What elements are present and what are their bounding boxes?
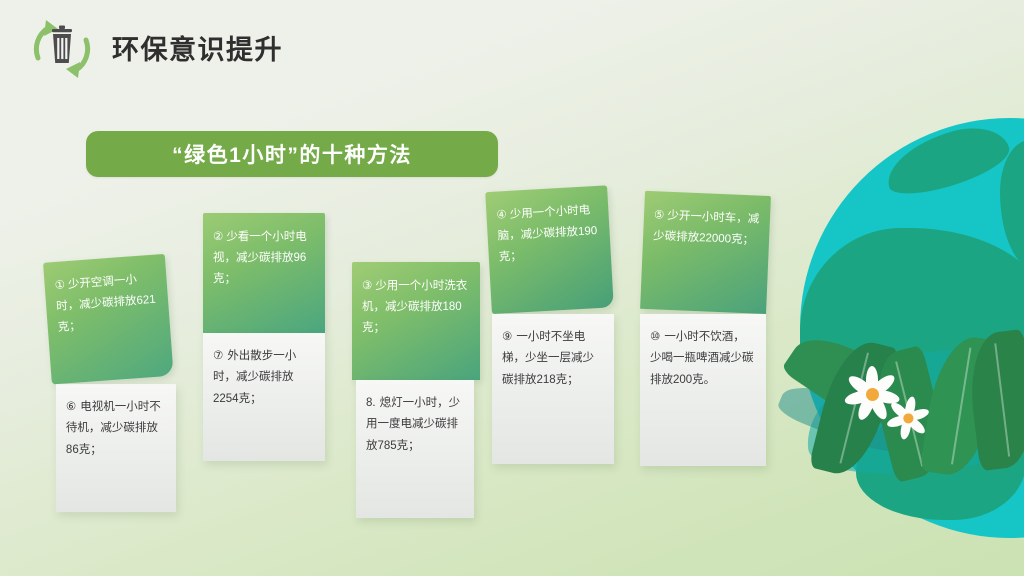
slide-header: 环保意识提升 bbox=[0, 0, 1024, 96]
globe-shadow-shape bbox=[799, 339, 1024, 484]
tip-card-top: ②少看一个小时电视，减少碳排放96克； bbox=[203, 213, 325, 333]
tip-card-top: ④少用一个小时电脑，减少碳排放190克； bbox=[485, 185, 614, 314]
leaf-shadow bbox=[775, 372, 931, 469]
tip-card-bottom: ⑥电视机一小时不待机，减少碳排放86克； bbox=[56, 384, 176, 512]
leaf-shadow bbox=[897, 376, 1024, 452]
tip-card-top: ①少开空调一小时，减少碳排放621克； bbox=[43, 254, 174, 385]
leaf-icon bbox=[808, 335, 899, 481]
tip-text: 一小时不饮酒，少喝一瓶啤酒减少碳排放200克。 bbox=[650, 331, 754, 386]
tip-card-bottom: ⑨一小时不坐电梯，少坐一层减少碳排放218克； bbox=[492, 314, 614, 464]
section-banner-label: “绿色1小时”的十种方法 bbox=[172, 139, 412, 169]
globe-continent-shape bbox=[1000, 140, 1024, 270]
tip-text: 少开空调一小时，减少碳排放621克； bbox=[56, 274, 156, 334]
globe-continent-shape bbox=[879, 118, 1014, 203]
tip-card-bottom: ⑩一小时不饮酒，少喝一瓶啤酒减少碳排放200克。 bbox=[640, 314, 766, 466]
tip-number: ⑤ bbox=[654, 205, 665, 226]
leaf-icon bbox=[919, 332, 1002, 480]
section-banner: “绿色1小时”的十种方法 bbox=[86, 131, 498, 177]
tip-number: 8. bbox=[366, 393, 376, 414]
tip-number: ⑥ bbox=[66, 397, 76, 418]
tip-card-top: ⑤少开一小时车，减少碳排放22000克； bbox=[640, 191, 771, 314]
page-title: 环保意识提升 bbox=[112, 28, 283, 67]
tip-card-bottom: ⑦外出散步一小时，减少碳排放2254克； bbox=[203, 333, 325, 461]
tip-text: 一小时不坐电梯，少坐一层减少碳排放218克； bbox=[502, 331, 594, 386]
globe-continent-shape bbox=[800, 228, 1024, 428]
tip-card-bottom: 8.熄灯一小时，少用一度电减少碳排放785克； bbox=[356, 380, 474, 518]
tip-text: 少看一个小时电视，减少碳排放96克； bbox=[213, 231, 307, 285]
tip-text: 少用一个小时洗衣机，减少碳排放180克； bbox=[362, 280, 467, 334]
tip-card-top: ③少用一个小时洗衣机，减少碳排放180克； bbox=[352, 262, 480, 380]
leaf-icon bbox=[865, 345, 952, 483]
tip-text: 电视机一小时不待机，减少碳排放86克； bbox=[66, 401, 161, 456]
tip-text: 外出散步一小时，减少碳排放2254克； bbox=[213, 350, 296, 405]
tip-card[interactable]: ⑤少开一小时车，减少碳排放22000克； ⑩一小时不饮酒，少喝一瓶啤酒减少碳排放… bbox=[640, 196, 766, 466]
leaf-icon bbox=[781, 320, 924, 444]
flower-center bbox=[866, 388, 879, 401]
tip-card[interactable]: ①少开空调一小时，减少碳排放621克； ⑥电视机一小时不待机，减少碳排放86克； bbox=[43, 254, 183, 512]
globe-continent-shape bbox=[990, 270, 1024, 430]
tip-number: ⑨ bbox=[502, 327, 512, 348]
tip-number: ⑩ bbox=[650, 327, 660, 348]
earth-globe-icon bbox=[800, 118, 1024, 538]
leaf-icon bbox=[964, 329, 1024, 471]
tip-number: ① bbox=[54, 275, 66, 297]
tip-text: 熄灯一小时，少用一度电减少碳排放785克； bbox=[366, 397, 460, 452]
tip-number: ⑦ bbox=[213, 346, 223, 367]
tip-card[interactable]: ③少用一个小时洗衣机，减少碳排放180克； 8.熄灯一小时，少用一度电减少碳排放… bbox=[352, 262, 480, 518]
tip-number: ③ bbox=[362, 276, 372, 297]
globe-continent-shape bbox=[856, 410, 1024, 520]
flower-center bbox=[903, 413, 913, 423]
tip-text: 少开一小时车，减少碳排放22000克； bbox=[653, 210, 760, 247]
tip-card[interactable]: ④少用一个小时电脑，减少碳排放190克； ⑨一小时不坐电梯，少坐一层减少碳排放2… bbox=[492, 192, 614, 464]
tip-number: ② bbox=[213, 227, 223, 248]
tip-card[interactable]: ②少看一个小时电视，减少碳排放96克； ⑦外出散步一小时，减少碳排放2254克； bbox=[203, 213, 325, 461]
tip-number: ④ bbox=[496, 205, 507, 226]
tip-text: 少用一个小时电脑，减少碳排放190克； bbox=[497, 204, 597, 263]
recycle-trash-icon bbox=[26, 14, 98, 84]
